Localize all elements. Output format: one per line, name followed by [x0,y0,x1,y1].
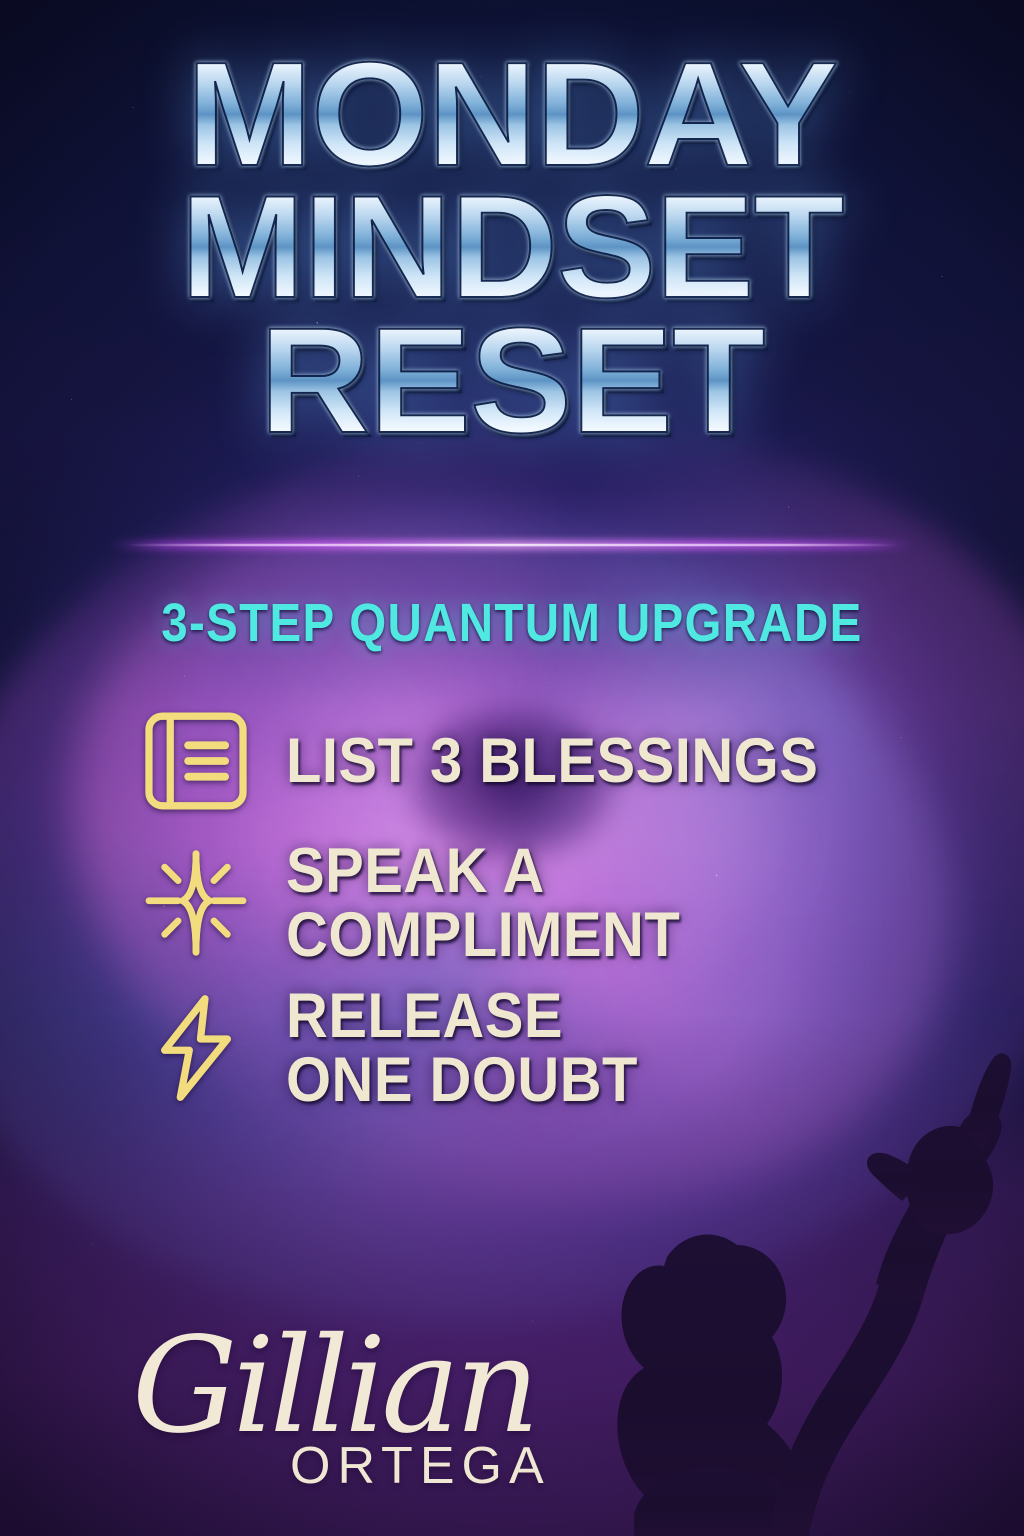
glowing-divider [110,540,914,550]
signature-block: Gillian ORTEGA [132,1330,551,1496]
step-label: SPEAK ACOMPLIMENT [286,839,680,968]
title-line-2: MINDSET [0,181,1024,312]
step-item: LIST 3 BLESSINGS [140,705,930,817]
title-line-3: RESET [0,313,1024,448]
step-label: LIST 3 BLESSINGS [286,729,818,793]
poster-canvas: MONDAY MINDSET RESET 3-STEP QUANTUM UPGR… [0,0,1024,1536]
notebook-icon [140,705,252,817]
poster-subtitle: 3-STEP QUANTUM UPGRADE [61,592,962,654]
signature-last-name: ORTEGA [290,1436,551,1496]
step-item: SPEAK ACOMPLIMENT [140,839,930,968]
signature-first-name: Gillian [132,1330,551,1444]
lightning-bolt-icon [140,992,252,1104]
steps-list: LIST 3 BLESSINGS [140,705,930,1112]
divider-core [126,544,898,546]
poster-title: MONDAY MINDSET RESET [0,48,1024,448]
step-item: RELEASEONE DOUBT [140,984,930,1113]
sparkle-icon [140,847,252,959]
step-label: RELEASEONE DOUBT [286,984,638,1113]
title-line-1: MONDAY [0,48,1024,181]
